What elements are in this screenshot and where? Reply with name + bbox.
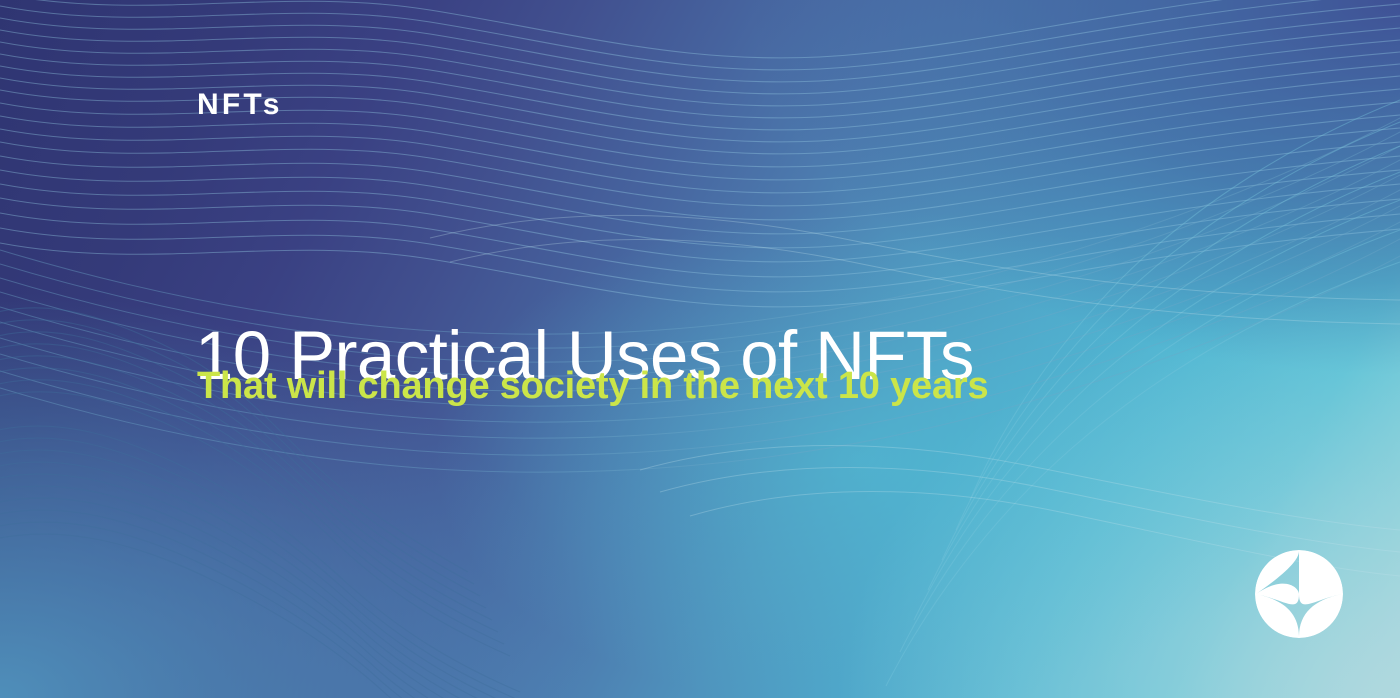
nft-article-banner: NFTs 10 Practical Uses of NFTs That will… — [0, 0, 1400, 698]
wave-group-middle — [0, 118, 1400, 472]
eyebrow-category-label: NFTs — [197, 88, 283, 121]
page-subtitle: That will change society in the next 10 … — [197, 367, 988, 407]
four-point-star-in-circle-icon — [1255, 550, 1343, 638]
